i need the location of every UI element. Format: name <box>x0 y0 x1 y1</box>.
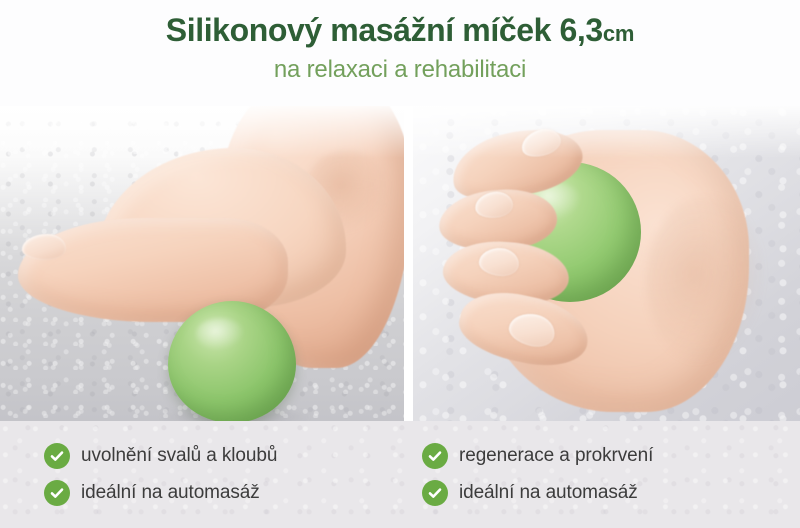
benefits-column-left: uvolnění svalů a kloubů ideální na autom… <box>0 421 404 528</box>
page-subtitle: na relaxaci a rehabilitaci <box>274 56 526 84</box>
benefit-item: ideální na automasáž <box>44 480 404 506</box>
header-banner: Silikonový masážní míček 6,3cm na relaxa… <box>0 0 800 106</box>
photo-band <box>0 106 800 421</box>
page-title-unit: cm <box>603 21 634 46</box>
benefit-label: uvolnění svalů a kloubů <box>81 445 277 467</box>
check-circle-icon <box>422 480 448 506</box>
benefit-item: regenerace a prokrvení <box>422 443 800 469</box>
photo-foot-rolling-ball <box>0 106 404 421</box>
check-circle-icon <box>44 443 70 469</box>
big-toe-nail <box>22 234 66 260</box>
benefit-label: ideální na automasáž <box>459 482 638 504</box>
benefits-column-right: regenerace a prokrvení ideální na automa… <box>404 421 800 528</box>
check-circle-icon <box>422 443 448 469</box>
benefit-label: ideální na automasáž <box>81 482 260 504</box>
page-title-main: Silikonový masážní míček <box>166 12 551 48</box>
benefit-item: ideální na automasáž <box>422 480 800 506</box>
page-title: Silikonový masážní míček 6,3cm <box>166 12 634 50</box>
photo-hand-squeezing-ball <box>413 106 800 421</box>
photo-divider <box>404 106 413 421</box>
check-circle-icon <box>44 480 70 506</box>
foot-illustration <box>0 106 404 421</box>
page-title-size: 6,3 <box>560 12 603 48</box>
hand-illustration <box>413 106 800 421</box>
massage-ball-left <box>168 301 296 421</box>
benefit-item: uvolnění svalů a kloubů <box>44 443 404 469</box>
benefits-bar: uvolnění svalů a kloubů ideální na autom… <box>0 421 800 528</box>
knuckle-shading <box>646 196 766 366</box>
benefit-label: regenerace a prokrvení <box>459 445 653 467</box>
massage-ball-highlight-left <box>196 318 244 350</box>
